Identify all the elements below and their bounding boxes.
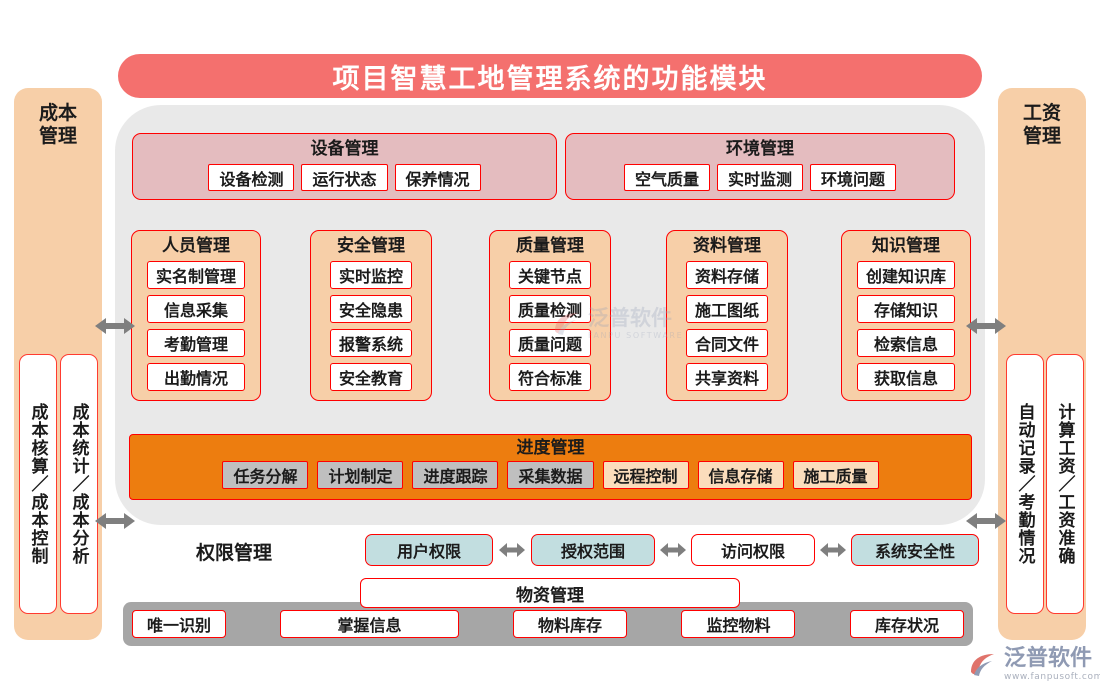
sidebar-cost-title: 成本 管理: [14, 102, 102, 148]
leaf-material-4[interactable]: 库存状况: [850, 610, 964, 638]
logo-url: www.fanpusoft.com: [1004, 673, 1100, 682]
leaf-material-0[interactable]: 唯一识别: [132, 610, 226, 638]
group-progress: 进度管理 任务分解 计划制定 进度跟踪 采集数据 远程控制 信息存储 施工质量: [129, 434, 972, 500]
permission-arrow-0: [499, 540, 525, 560]
sidebar-payroll-box-1[interactable]: 计算工资／工资准确: [1046, 354, 1084, 614]
leaf-document-2[interactable]: 合同文件: [686, 329, 768, 357]
sidebar-cost-title-line1: 成本: [39, 102, 77, 124]
group-equipment-title: 设备管理: [311, 134, 379, 164]
arrow-left-lower: [95, 510, 135, 532]
arrow-right-lower: [966, 510, 1006, 532]
fanpu-logo: 泛普软件 www.fanpusoft.com: [968, 648, 1100, 682]
permission-box-3[interactable]: 系统安全性: [851, 534, 979, 566]
leaf-progress-0[interactable]: 任务分解: [222, 461, 308, 489]
sidebar-payroll-title-line2: 管理: [1023, 125, 1061, 147]
leaf-environment-2[interactable]: 环境问题: [810, 164, 896, 191]
column-safety: 安全管理 实时监控 安全隐患 报警系统 安全教育: [310, 230, 432, 401]
group-progress-items: 任务分解 计划制定 进度跟踪 采集数据 远程控制 信息存储 施工质量: [216, 461, 884, 489]
leaf-knowledge-2[interactable]: 检索信息: [857, 329, 955, 357]
fanpu-logo-icon: [968, 652, 998, 678]
column-document: 资料管理 资料存储 施工图纸 合同文件 共享资料: [666, 230, 788, 401]
column-quality: 质量管理 关键节点 质量检测 质量问题 符合标准: [489, 230, 611, 401]
material-bar: 唯一识别 掌握信息 物料库存 监控物料 库存状况: [123, 602, 973, 646]
permission-arrow-1: [660, 540, 686, 560]
group-environment-items: 空气质量 实时监测 环境问题: [616, 164, 904, 199]
leaf-equipment-0[interactable]: 设备检测: [208, 164, 294, 191]
column-document-title: 资料管理: [693, 231, 761, 261]
group-equipment-items: 设备检测 运行状态 保养情况: [200, 164, 488, 199]
leaf-material-3[interactable]: 监控物料: [681, 610, 795, 638]
leaf-material-1[interactable]: 掌握信息: [280, 610, 458, 638]
column-knowledge: 知识管理 创建知识库 存储知识 检索信息 获取信息: [841, 230, 971, 401]
leaf-quality-2[interactable]: 质量问题: [509, 329, 591, 357]
leaf-equipment-2[interactable]: 保养情况: [395, 164, 481, 191]
column-quality-title: 质量管理: [516, 231, 584, 261]
leaf-knowledge-0[interactable]: 创建知识库: [857, 261, 955, 289]
leaf-material-2[interactable]: 物料库存: [513, 610, 627, 638]
leaf-progress-3[interactable]: 采集数据: [507, 461, 593, 489]
leaf-personnel-3[interactable]: 出勤情况: [147, 363, 245, 391]
sidebar-payroll-title-line1: 工资: [1023, 102, 1061, 124]
sidebar-cost: 成本 管理 成本核算／成本控制 成本统计／成本分析: [14, 88, 102, 640]
column-personnel: 人员管理 实名制管理 信息采集 考勤管理 出勤情况: [131, 230, 261, 401]
column-personnel-title: 人员管理: [162, 231, 230, 261]
leaf-safety-2[interactable]: 报警系统: [330, 329, 412, 357]
leaf-document-1[interactable]: 施工图纸: [686, 295, 768, 323]
page-title: 项目智慧工地管理系统的功能模块: [118, 54, 982, 98]
column-safety-title: 安全管理: [337, 231, 405, 261]
leaf-progress-6[interactable]: 施工质量: [793, 461, 879, 489]
leaf-progress-1[interactable]: 计划制定: [317, 461, 403, 489]
arrow-right-upper: [966, 315, 1006, 337]
leaf-environment-0[interactable]: 空气质量: [624, 164, 710, 191]
sidebar-cost-title-line2: 管理: [39, 125, 77, 147]
permission-arrow-2: [820, 540, 846, 560]
leaf-quality-3[interactable]: 符合标准: [509, 363, 591, 391]
permission-box-0[interactable]: 用户权限: [365, 534, 493, 566]
leaf-safety-0[interactable]: 实时监控: [330, 261, 412, 289]
sidebar-cost-box-1[interactable]: 成本统计／成本分析: [60, 354, 98, 614]
leaf-progress-5[interactable]: 信息存储: [698, 461, 784, 489]
leaf-document-0[interactable]: 资料存储: [686, 261, 768, 289]
arrow-left-upper: [95, 315, 135, 337]
group-progress-title: 进度管理: [517, 435, 585, 461]
permission-box-1[interactable]: 授权范围: [531, 534, 655, 566]
group-equipment: 设备管理 设备检测 运行状态 保养情况: [132, 133, 557, 200]
permission-label: 权限管理: [196, 538, 272, 565]
diagram-canvas: 项目智慧工地管理系统的功能模块 设备管理 设备检测 运行状态 保养情况 环境管理…: [0, 0, 1100, 700]
leaf-knowledge-3[interactable]: 获取信息: [857, 363, 955, 391]
leaf-quality-0[interactable]: 关键节点: [509, 261, 591, 289]
permission-box-2[interactable]: 访问权限: [691, 534, 815, 566]
column-knowledge-title: 知识管理: [872, 231, 940, 261]
material-title: 物资管理: [360, 578, 740, 608]
group-environment-title: 环境管理: [726, 134, 794, 164]
leaf-knowledge-1[interactable]: 存储知识: [857, 295, 955, 323]
leaf-personnel-1[interactable]: 信息采集: [147, 295, 245, 323]
leaf-personnel-0[interactable]: 实名制管理: [147, 261, 245, 289]
leaf-environment-1[interactable]: 实时监测: [717, 164, 803, 191]
leaf-progress-2[interactable]: 进度跟踪: [412, 461, 498, 489]
leaf-document-3[interactable]: 共享资料: [686, 363, 768, 391]
sidebar-payroll: 工资 管理 自动记录／考勤情况 计算工资／工资准确: [998, 88, 1086, 640]
leaf-safety-1[interactable]: 安全隐患: [330, 295, 412, 323]
leaf-safety-3[interactable]: 安全教育: [330, 363, 412, 391]
group-environment: 环境管理 空气质量 实时监测 环境问题: [565, 133, 955, 200]
leaf-equipment-1[interactable]: 运行状态: [301, 164, 387, 191]
sidebar-payroll-box-0[interactable]: 自动记录／考勤情况: [1006, 354, 1044, 614]
leaf-quality-1[interactable]: 质量检测: [509, 295, 591, 323]
sidebar-payroll-title: 工资 管理: [998, 102, 1086, 148]
leaf-personnel-2[interactable]: 考勤管理: [147, 329, 245, 357]
logo-brand: 泛普软件: [1004, 648, 1100, 670]
leaf-progress-4[interactable]: 远程控制: [603, 461, 689, 489]
sidebar-cost-box-0[interactable]: 成本核算／成本控制: [19, 354, 57, 614]
